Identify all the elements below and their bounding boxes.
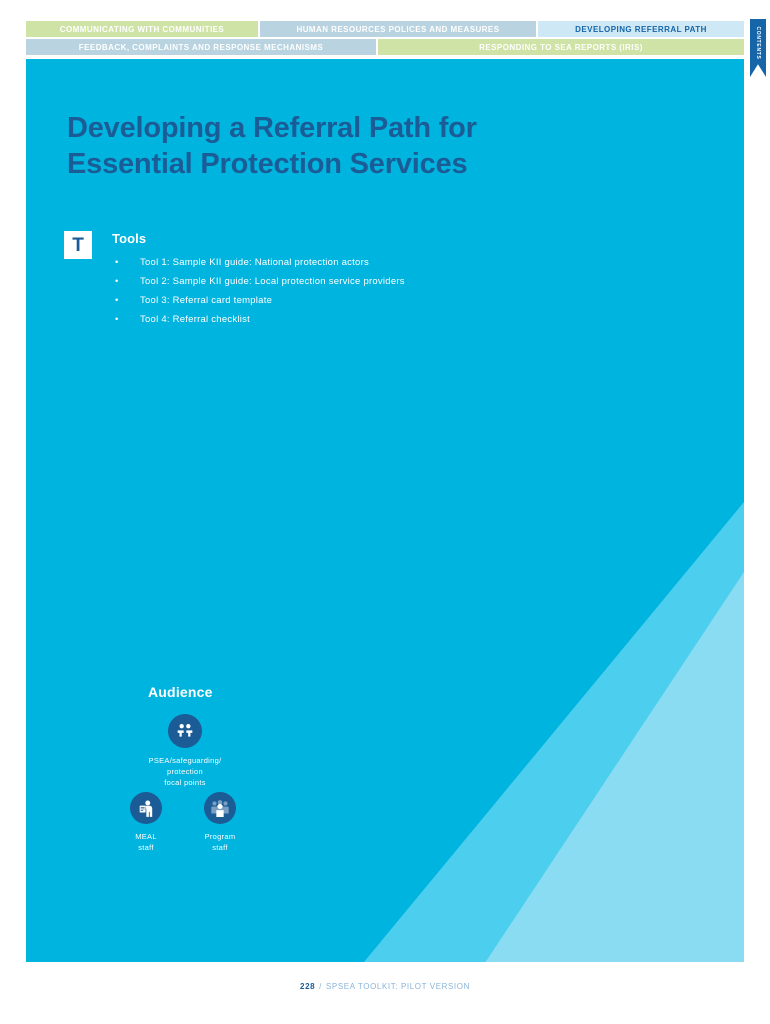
- nav-tab-communicating-with-communities[interactable]: COMMUNICATING WITH COMMUNITIES: [26, 21, 258, 37]
- group-of-people-icon: [204, 792, 236, 824]
- list-item[interactable]: • Tool 4: Referral checklist: [112, 310, 602, 329]
- audience-item-label: Program staff: [178, 831, 262, 853]
- tool-item-label: Tool 2: Sample KII guide: Local protecti…: [140, 276, 405, 287]
- nav-tab-label: COMMUNICATING WITH COMMUNITIES: [60, 25, 224, 34]
- nav-tab-developing-referral-path[interactable]: DEVELOPING REFERRAL PATH: [538, 21, 744, 37]
- bullet-icon: •: [115, 310, 119, 329]
- page-root: COMMUNICATING WITH COMMUNITIES HUMAN RES…: [0, 0, 770, 1024]
- list-item[interactable]: • Tool 2: Sample KII guide: Local protec…: [112, 272, 602, 291]
- two-people-icon: [168, 714, 202, 748]
- audience-item-focal-points: PSEA/safeguarding/ protection focal poin…: [130, 714, 240, 788]
- nav-tab-row-secondary: FEEDBACK, COMPLAINTS AND RESPONSE MECHAN…: [26, 39, 744, 55]
- nav-tab-human-resources-policies[interactable]: HUMAN RESOURCES POLICES AND MEASURES: [260, 21, 536, 37]
- tool-item-label: Tool 1: Sample KII guide: National prote…: [140, 257, 369, 268]
- page-number: 228: [300, 982, 315, 991]
- nav-tab-feedback-complaints-response[interactable]: FEEDBACK, COMPLAINTS AND RESPONSE MECHAN…: [26, 39, 376, 55]
- bullet-icon: •: [115, 253, 119, 272]
- page-footer: 228/SPSEA TOOLKIT: PILOT VERSION: [0, 982, 770, 991]
- nav-tab-row-primary: COMMUNICATING WITH COMMUNITIES HUMAN RES…: [26, 21, 744, 37]
- audience-item-meal-staff: MEAL staff: [104, 792, 188, 853]
- nav-tab-label: DEVELOPING REFERRAL PATH: [575, 25, 707, 34]
- chapter-cover-canvas: Developing a Referral Path for Essential…: [26, 59, 744, 962]
- nav-tab-label: FEEDBACK, COMPLAINTS AND RESPONSE MECHAN…: [79, 43, 323, 52]
- bullet-icon: •: [115, 291, 119, 310]
- audience-item-label: PSEA/safeguarding/ protection focal poin…: [130, 755, 240, 788]
- page-title-line-2: Essential Protection Services: [67, 148, 467, 180]
- page-title: Developing a Referral Path for Essential…: [67, 110, 627, 182]
- audience-heading: Audience: [148, 684, 213, 700]
- nav-tab-label: RESPONDING TO SEA REPORTS (IRIS): [479, 43, 643, 52]
- list-item[interactable]: • Tool 1: Sample KII guide: National pro…: [112, 253, 602, 272]
- tools-badge-icon: T: [64, 231, 92, 259]
- list-item[interactable]: • Tool 3: Referral card template: [112, 291, 602, 310]
- contents-bookmark-tab[interactable]: CONTENTS: [750, 19, 766, 77]
- audience-item-program-staff: Program staff: [178, 792, 262, 853]
- audience-item-label: MEAL staff: [104, 831, 188, 853]
- contents-tab-label: CONTENTS: [755, 26, 761, 59]
- tool-item-label: Tool 3: Referral card template: [140, 295, 272, 306]
- page-title-line-1: Developing a Referral Path for: [67, 112, 477, 144]
- tool-item-label: Tool 4: Referral checklist: [140, 314, 250, 325]
- footer-separator: /: [315, 982, 326, 991]
- tools-badge-letter: T: [72, 236, 84, 255]
- tools-heading: Tools: [112, 231, 146, 246]
- person-with-clipboard-icon: [130, 792, 162, 824]
- nav-tab-responding-to-sea-reports[interactable]: RESPONDING TO SEA REPORTS (IRIS): [378, 39, 744, 55]
- tools-list: • Tool 1: Sample KII guide: National pro…: [112, 253, 602, 329]
- nav-tab-label: HUMAN RESOURCES POLICES AND MEASURES: [296, 25, 499, 34]
- bullet-icon: •: [115, 272, 119, 291]
- footer-text: SPSEA TOOLKIT: PILOT VERSION: [326, 982, 470, 991]
